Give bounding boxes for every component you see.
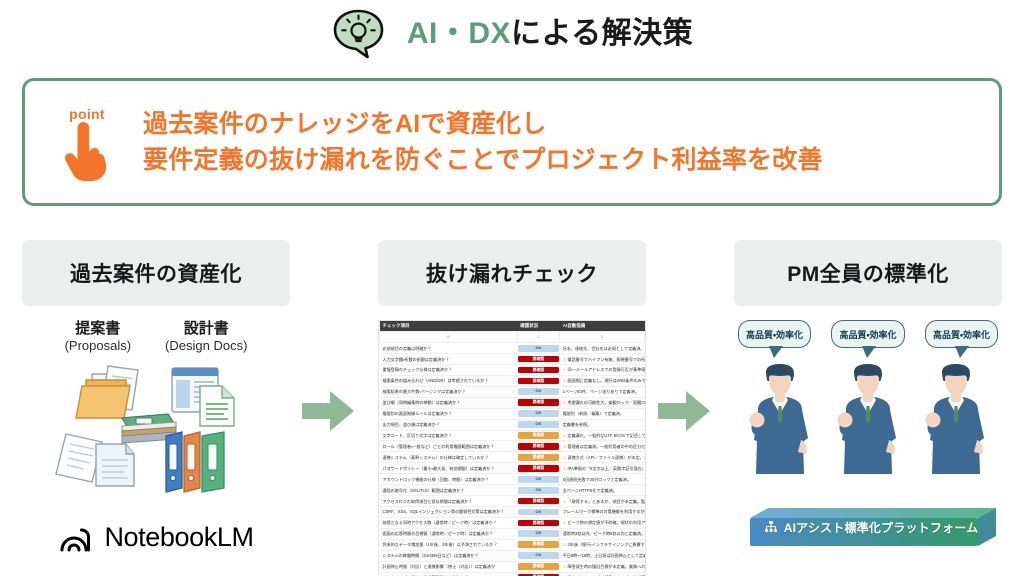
table-row[interactable]: CSRF、XSS、SQLインジェクション等の脆弱性対策は定義済か？OKフレームワ…: [380, 507, 645, 518]
warning-icon: ⚠: [563, 520, 568, 525]
cell-check-item: 権限別の画面制御ルールは定義済か？: [380, 408, 518, 419]
document-labels: 提案書 (Proposals) 設計書 (Design Docs): [22, 320, 290, 354]
page-title-accent: AI・DX: [407, 17, 511, 50]
cell-ai-note: ⚠ IPA準拠の「8文字以上／英数字記号混在」が未定義。設定を準拠。: [560, 463, 645, 474]
warning-icon: ⚠: [563, 542, 568, 547]
column-assetization: 過去案件の資産化 提案書 (Proposals) 設計書 (Design Doc…: [22, 240, 290, 554]
cell-check-item: 並び順（同時編集時の挙動）は定義済か？: [380, 397, 518, 408]
status-badge: OK: [518, 552, 558, 559]
people-illustration-zone: 高品質・効率化 高品質・効率化 高品質・効率化: [734, 320, 1002, 510]
cell-ai-note: 全ページHTTPS化で定義済。: [560, 485, 645, 496]
table-row[interactable]: パスワードポリシー（最小・最大長、有効期限）は定義済か？要確認⚠ IPA準拠の「…: [380, 463, 645, 474]
warning-icon: ⚠: [563, 367, 568, 372]
cell-status: OK: [517, 343, 559, 354]
cell-status: OK: [517, 507, 559, 518]
point-line-1: 過去案件のナレッジをAIで資産化し: [143, 106, 981, 142]
table-body: 必須項目の定義は明確か？OK氏名、連絡先、会社名は必須として定義済。入力文字種・…: [380, 343, 645, 576]
table-row[interactable]: 重複登録のチェック仕様は定義済か？要確認⚠ 同一メールアドレスでの登録可否が基準…: [380, 365, 645, 376]
status-badge: OK: [518, 388, 558, 395]
cell-ai-note: ⚠ 考慮漏れの可能性大。楽観ロック／悲観ロック等の方式検討が必要。: [560, 397, 645, 408]
column-body-assetization: 提案書 (Proposals) 設計書 (Design Docs): [22, 320, 290, 554]
axis-label-c: C: [517, 332, 559, 343]
design-docs-label-en: (Design Docs): [165, 338, 247, 354]
table-row[interactable]: バックアップの頻度と世代管理数は定義済か？要確認⚠ 日次バックアップの記載はある…: [380, 572, 645, 576]
status-badge: OK: [518, 476, 558, 483]
cell-ai-note: 平日8時〜18時、土日祝は計画停止として定義済。: [560, 550, 645, 561]
cell-check-item: 画面の応答時間の目標値（通常時／ピーク時）は定義済か？: [380, 528, 518, 539]
cell-status: 要確認: [517, 452, 559, 463]
status-badge: 要確認: [518, 563, 558, 570]
cell-check-item: 検索結果の最大件数・ページングは定義済か？: [380, 386, 518, 397]
status-badge: OK: [518, 410, 558, 417]
cell-status: 要確認: [517, 517, 559, 528]
cell-check-item: 将来的なデータ増加量（1年後、3年後）は予測されているか？: [380, 539, 518, 550]
cell-status: 要確認: [517, 430, 559, 441]
speech-bubble-text: 高品質・効率化: [746, 330, 803, 340]
speech-bubble-2: 高品質・効率化: [831, 320, 904, 348]
cell-ai-note: 権限別（参照／編集）で定義済。: [560, 408, 645, 419]
table-row[interactable]: 前提となる同時アクセス数（通常時／ピーク時）は定義済か？要確認⚠ ピーク時の想定…: [380, 517, 645, 528]
cell-status: 要確認: [517, 375, 559, 386]
speech-bubble-text: 高品質・効率化: [933, 330, 990, 340]
table-header-row: チェック項目 確認状況 AI自動指摘: [380, 321, 645, 332]
cell-status: 要確認: [517, 397, 559, 408]
table-row[interactable]: 検索結果の最大件数・ページングは定義済か？OK1ページ50件、ページ送りありで定…: [380, 386, 645, 397]
status-badge: 要確認: [518, 432, 558, 439]
checklist-table-card: B C D チェック項目 確認状況 AI自動指摘 必須項目の定義は明確か？OK氏…: [378, 320, 646, 576]
folder-icon: [76, 366, 138, 418]
status-badge: 要確認: [518, 378, 558, 385]
cell-ai-note: ⚠ 管理者は定義済。一般利用者の中の区分だが、詳細なマトリクスが未作成。: [560, 441, 645, 452]
cell-ai-note: ⚠ 画面側に定義なし。現行はAND条件のみで検索限定で不足する懸念がある。: [560, 375, 645, 386]
cell-status: OK: [517, 386, 559, 397]
table-row[interactable]: 将来的なデータ増加量（1年後、3年後）は予測されているか？要確認⚠ 3年後（移行…: [380, 539, 645, 550]
warning-icon: ⚠: [563, 357, 568, 362]
cell-ai-note: ⚠ 電話番号でハイフン有無、郵便番号での桁数が不統一。ルール化必要。: [560, 354, 645, 365]
speech-bubble-text: 高品質・効率化: [839, 330, 896, 340]
status-badge: OK: [518, 487, 558, 494]
table-row[interactable]: アクセスログの取得項目と保存期間は定義済か？要確認⚠ 「取得する」とあるが、項目…: [380, 496, 645, 507]
cell-check-item: 検索条件の組み合わせ（AND/OR）は考慮されているか？: [380, 375, 518, 386]
proposals-label-jp: 提案書: [65, 320, 131, 338]
cell-check-item: 前提となる同時アクセス数（通常時／ピーク時）は定義済か？: [380, 517, 518, 528]
status-badge: 要確認: [518, 356, 558, 363]
cell-check-item: 連携システム（基幹システム）の仕様は確定しているか？: [380, 452, 518, 463]
table-row[interactable]: 連携システム（基幹システム）の仕様は確定しているか？要確認⚠ 連携方式（API／…: [380, 452, 645, 463]
point-text-block: 過去案件のナレッジをAIで資産化し 要件定義の抜け漏れを防ぐことでプロジェクト利…: [143, 106, 999, 179]
cell-check-item: バックアップの頻度と世代管理数は定義済か？: [380, 572, 518, 576]
cell-ai-note: 氏名、連絡先、会社名は必須として定義済。: [560, 343, 645, 354]
warning-icon: ⚠: [563, 499, 568, 504]
column-body-gap-check: B C D チェック項目 確認状況 AI自動指摘 必須項目の定義は明確か？OK氏…: [378, 320, 646, 576]
point-line-2: 要件定義の抜け漏れを防ぐことでプロジェクト利益率を改善: [143, 142, 981, 178]
status-badge: 要確認: [518, 520, 558, 527]
notebooklm-logo-icon: [58, 522, 94, 554]
status-badge: 要確認: [518, 454, 558, 461]
businessperson-icon-2: [832, 364, 904, 482]
speech-bubble-1: 高品質・効率化: [738, 320, 811, 348]
cell-status: OK: [517, 408, 559, 419]
table-row[interactable]: 入力文字種・桁数の制限は定義済か？要確認⚠ 電話番号でハイフン有無、郵便番号での…: [380, 354, 645, 365]
cell-check-item: 通信の暗号化（SSL/TLS）範囲は定義済か？: [380, 485, 518, 496]
status-badge: OK: [518, 421, 558, 428]
column-standardization: PM全員の標準化 高品質・効率化 高品質・効率化 高品質・効率化: [734, 240, 1002, 558]
cell-ai-note: 5回連続失敗で30分ロックと定義済。: [560, 474, 645, 485]
column-heading-gap-check: 抜け漏れチェック: [378, 240, 646, 306]
slide-canvas: AI・DXによる解決策 point 過去案件のナレッジをAIで資産化し 要件定義…: [0, 0, 1024, 576]
table-row[interactable]: 必須項目の定義は明確か？OK氏名、連絡先、会社名は必須として定義済。: [380, 343, 645, 354]
cell-status: 要確認: [517, 496, 559, 507]
cell-status: 要確認: [517, 539, 559, 550]
cell-check-item: ロール（管理者・一般など）ごとの利用権限範囲は定義済か？: [380, 441, 518, 452]
cell-ai-note: 1ページ50件、ページ送りありで定義済。: [560, 386, 645, 397]
ai-platform-slab: AIアシスト標準化プラットフォーム: [734, 506, 1002, 558]
right-arrow-icon-2: [656, 388, 712, 434]
axis-label-d: D: [560, 332, 645, 343]
column-heading-text: 過去案件の資産化: [70, 258, 242, 288]
status-badge: 要確認: [518, 443, 558, 450]
speech-bubble-3: 高品質・効率化: [925, 320, 998, 348]
cell-ai-note: ⚠ 定義漏れ。一般的なUTF-8/CSVで記述して問題ないか要確認。: [560, 430, 645, 441]
column-heading-text: 抜け漏れチェック: [426, 258, 598, 288]
cell-check-item: CSRF、XSS、SQLインジェクション等の脆弱性対策は定義済か？: [380, 507, 518, 518]
cell-status: 要確認: [517, 463, 559, 474]
status-badge: 要確認: [518, 399, 558, 406]
column-body-standardization: 高品質・効率化 高品質・効率化 高品質・効率化: [734, 320, 1002, 558]
cell-status: OK: [517, 419, 559, 430]
warning-icon: ⚠: [563, 455, 568, 460]
table-row[interactable]: 文字コード、区切り文字は定義済か？要確認⚠ 定義漏れ。一般的なUTF-8/CSV…: [380, 430, 645, 441]
status-badge: 要確認: [518, 498, 558, 505]
people-row: [734, 364, 1002, 482]
binders-icon: [166, 432, 224, 492]
table-column-axis: B C D: [380, 332, 645, 343]
table-row[interactable]: 権限別の画面制御ルールは定義済か？OK権限別（参照／編集）で定義済。: [380, 408, 645, 419]
proposals-label-en: (Proposals): [65, 338, 131, 354]
right-arrow-icon-1: [300, 388, 356, 434]
table-header-status: 確認状況: [517, 321, 559, 332]
status-badge: 要確認: [518, 367, 558, 374]
cell-status: OK: [517, 485, 559, 496]
documents-illustration: [22, 356, 290, 516]
cell-status: 要確認: [517, 441, 559, 452]
document-label-design-docs: 設計書 (Design Docs): [165, 320, 247, 354]
cell-check-item: 文字コード、区切り文字は定義済か？: [380, 430, 518, 441]
document-label-proposals: 提案書 (Proposals): [65, 320, 131, 354]
cell-status: 要確認: [517, 572, 559, 576]
column-heading-standardization: PM全員の標準化: [734, 240, 1002, 306]
design-doc-icon: [172, 368, 234, 426]
notebooklm-brand: NotebookLM: [22, 522, 290, 554]
table-row[interactable]: ロール（管理者・一般など）ごとの利用権限範囲は定義済か？要確認⚠ 管理者は定義済…: [380, 441, 645, 452]
cell-status: OK: [517, 528, 559, 539]
warning-icon: ⚠: [563, 433, 568, 438]
point-icon-group: point: [25, 102, 143, 182]
design-docs-label-jp: 設計書: [165, 320, 247, 338]
table-header-item: チェック項目: [380, 321, 518, 332]
table-row[interactable]: 計画停止時間（対応）と連携影響（停止（対応））は定義済か要確認⚠ 障害発生時の復…: [380, 561, 645, 572]
cell-check-item: 重複登録のチェック仕様は定義済か？: [380, 365, 518, 376]
status-badge: OK: [518, 509, 558, 516]
status-badge: OK: [518, 530, 558, 537]
cell-check-item: パスワードポリシー（最小・最大長、有効期限）は定義済か？: [380, 463, 518, 474]
table-row[interactable]: 画面の応答時間の目標値（通常時／ピーク時）は定義済か？OK通常時3秒以内、ピーク…: [380, 528, 645, 539]
notebooklm-wordmark: NotebookLM: [104, 522, 253, 553]
cell-ai-note: ⚠ 同一メールアドレスでの登録可否が基準値に定義なし。規定が必要。: [560, 365, 645, 376]
cell-status: 要確認: [517, 561, 559, 572]
pointing-hand-icon: [60, 120, 108, 182]
speech-bubble-row: 高品質・効率化 高品質・効率化 高品質・効率化: [734, 320, 1002, 348]
table-row[interactable]: 通信の暗号化（SSL/TLS）範囲は定義済か？OK全ページHTTPS化で定義済。: [380, 485, 645, 496]
warning-icon: ⚠: [563, 400, 568, 405]
cell-ai-note: 通常時3秒以内、ピーク時5秒以内と定義済。: [560, 528, 645, 539]
businessperson-icon-1: [744, 364, 816, 482]
cell-check-item: 計画停止時間（対応）と連携影響（停止（対応））は定義済か: [380, 561, 518, 572]
page-title-rest: による解決策: [511, 17, 693, 50]
column-gap-check: 抜け漏れチェック B C D チェック項目: [378, 240, 646, 576]
cell-ai-note: 定義書を参照。: [560, 419, 645, 430]
table-row[interactable]: システムの稼働時間（24H365日など）は定義済か？OK平日8時〜18時、土日祝…: [380, 550, 645, 561]
platform-label-text: AIアシスト標準化プラットフォーム: [784, 519, 979, 536]
warning-icon: ⚠: [563, 564, 568, 569]
cell-status: 要確認: [517, 354, 559, 365]
warning-icon: ⚠: [563, 466, 568, 471]
cell-ai-note: ⚠ 「取得する」とあるが、項目が未定義。監査要件から保存期間も定義。: [560, 496, 645, 507]
cell-status: 要確認: [517, 365, 559, 376]
point-callout-box: point 過去案件のナレッジをAIで資産化し 要件定義の抜け漏れを防ぐことでプ…: [22, 78, 1002, 206]
businessperson-icon-3: [920, 364, 992, 482]
axis-label-b: B: [380, 332, 518, 343]
column-heading-assetization: 過去案件の資産化: [22, 240, 290, 306]
slide-title-row: AI・DXによる解決策: [0, 8, 1024, 60]
status-badge: 要確認: [518, 465, 558, 472]
status-badge: 要確認: [518, 541, 558, 548]
cell-ai-note: ⚠ 3年後（移行・インフラサイジングに影響するため、事業計画から予測が必要。: [560, 539, 645, 550]
table-header-ai: AI自動指摘: [560, 321, 645, 332]
checklist-table: B C D チェック項目 確認状況 AI自動指摘 必須項目の定義は明確か？OK氏…: [379, 321, 645, 576]
table-row[interactable]: 検索条件の組み合わせ（AND/OR）は考慮されているか？要確認⚠ 画面側に定義な…: [380, 375, 645, 386]
column-heading-text: PM全員の標準化: [787, 258, 949, 288]
cell-ai-note: ⚠ 連携方式（API／ファイル連携）が未定。スケジュールへの影響大。早期確定。: [560, 452, 645, 463]
table-row[interactable]: アカウントロック機能の仕様（回数、時間）は定義済か？OK5回連続失敗で30分ロッ…: [380, 474, 645, 485]
sitemap-hierarchy-icon: [764, 521, 778, 533]
platform-label-group: AIアシスト標準化プラットフォーム: [734, 506, 1002, 558]
cell-ai-note: ⚠ 障害発生時の復旧目標が未定義。業務への影響度から目標値が必要（例：RTO 4…: [560, 561, 645, 572]
cell-status: OK: [517, 550, 559, 561]
cell-ai-note: ⚠ 日次バックアップの記載はあるが、世代管理数が未定義。7日／4世代推奨。: [560, 572, 645, 576]
table-row[interactable]: 出力項目、並び順は定義済か？OK定義書を参照。: [380, 419, 645, 430]
cell-status: OK: [517, 474, 559, 485]
cell-check-item: アカウントロック機能の仕様（回数、時間）は定義済か？: [380, 474, 518, 485]
status-badge: OK: [518, 345, 558, 352]
cell-ai-note: ⚠ ピーク時の想定値が不明確。現状の利用アクセス数からの推定値で定義暫定。: [560, 517, 645, 528]
cell-check-item: 出力項目、並び順は定義済か？: [380, 419, 518, 430]
cell-check-item: 入力文字種・桁数の制限は定義済か？: [380, 354, 518, 365]
cell-ai-note: フレームワーク標準の対策機能を利用するが前提で定義済。: [560, 507, 645, 518]
warning-icon: ⚠: [563, 444, 568, 449]
warning-icon: ⚠: [563, 378, 568, 383]
cell-check-item: システムの稼働時間（24H365日など）は定義済か？: [380, 550, 518, 561]
lightbulb-speech-bubble-icon: [331, 8, 393, 60]
cell-check-item: 必須項目の定義は明確か？: [380, 343, 518, 354]
cell-check-item: アクセスログの取得項目と保存期間は定義済か？: [380, 496, 518, 507]
page-title: AI・DXによる解決策: [407, 19, 693, 49]
table-row[interactable]: 並び順（同時編集時の挙動）は定義済か？要確認⚠ 考慮漏れの可能性大。楽観ロック／…: [380, 397, 645, 408]
